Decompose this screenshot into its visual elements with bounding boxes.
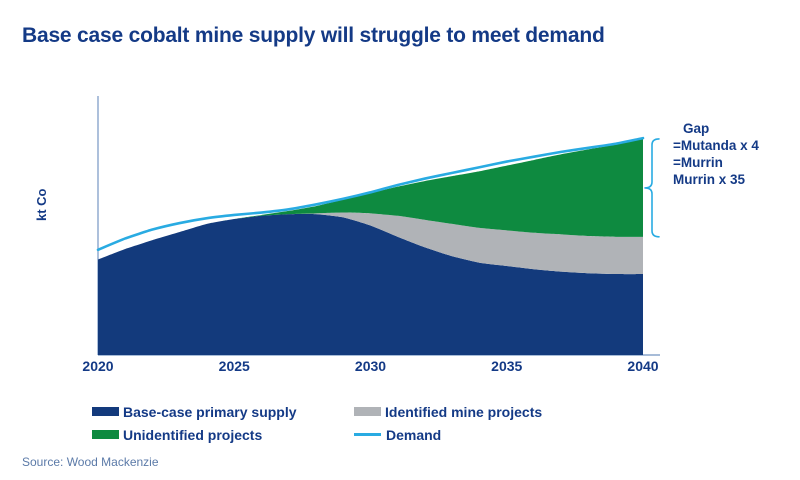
- y-axis-label: kt Co: [34, 157, 49, 175]
- legend-item-identified-mine-projects[interactable]: Identified mine projects: [354, 404, 616, 420]
- legend-item-unidentified-projects[interactable]: Unidentified projects: [92, 427, 354, 443]
- legend-item-label: Unidentified projects: [123, 427, 262, 443]
- gap-annotation: Gap =Mutanda x 4 =Murrin Murrin x 35: [673, 120, 759, 188]
- gap-annotation-line-4: Murrin x 35: [673, 171, 759, 188]
- legend-item-demand[interactable]: Demand: [354, 427, 616, 443]
- x-axis-tick-labels: 20202025203020352040: [0, 358, 800, 382]
- chart-figure: Base case cobalt mine supply will strugg…: [0, 0, 800, 480]
- gap-annotation-line-2: =Mutanda x 4: [673, 137, 759, 154]
- x-tick-label-2020: 2020: [82, 358, 113, 374]
- y-axis-label-text: kt Co: [34, 203, 49, 221]
- gap-annotation-line-3: =Murrin: [673, 154, 759, 171]
- legend-item-base-case-primary-supply[interactable]: Base-case primary supply: [92, 404, 354, 420]
- x-tick-label-2025: 2025: [219, 358, 250, 374]
- chart-legend: Base-case primary supplyIdentified mine …: [92, 400, 652, 446]
- legend-item-label: Identified mine projects: [385, 404, 542, 420]
- gap-brace: [645, 139, 659, 237]
- legend-swatch-icon: [354, 407, 381, 416]
- x-tick-label-2030: 2030: [355, 358, 386, 374]
- legend-swatch-icon: [92, 430, 119, 439]
- legend-item-label: Demand: [386, 427, 441, 443]
- x-tick-label-2040: 2040: [627, 358, 658, 374]
- area-series-group: [98, 139, 643, 355]
- source-note: Source: Wood Mackenzie: [22, 455, 159, 469]
- legend-swatch-icon: [92, 407, 119, 416]
- legend-line-icon: [354, 433, 381, 436]
- legend-item-label: Base-case primary supply: [123, 404, 297, 420]
- x-tick-label-2035: 2035: [491, 358, 522, 374]
- gap-brace-icon: [645, 139, 659, 237]
- gap-annotation-line-1: Gap: [673, 120, 759, 137]
